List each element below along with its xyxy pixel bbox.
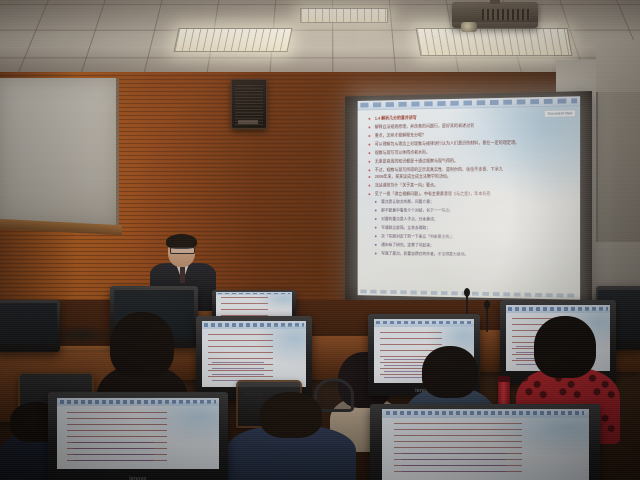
slide-view-badge: Document View <box>544 109 576 118</box>
microphone-capsule <box>484 300 490 309</box>
presenter-tie <box>180 267 185 283</box>
monitor-screen[interactable] <box>57 398 219 470</box>
screen-text-lines <box>221 297 268 316</box>
student-hair <box>110 312 174 378</box>
projector-vents <box>482 9 530 20</box>
bullet-item: 1.4 解析几分的意并讲写 <box>367 113 520 120</box>
monitor-brand-label: lenovo <box>48 476 228 480</box>
screen-text-lines-secondary <box>73 442 154 465</box>
monitor-screen[interactable] <box>216 292 292 319</box>
right-upper-wall <box>596 40 640 100</box>
glasses-icon <box>170 247 195 254</box>
microphone-stem <box>486 306 488 332</box>
student-center-blue <box>226 392 356 480</box>
thermos-lid <box>498 376 510 382</box>
light-louver <box>417 29 572 55</box>
student-hair <box>534 316 596 378</box>
screen-text-lines-secondary <box>402 453 506 475</box>
computer-monitor[interactable] <box>0 300 60 352</box>
wall-mounted-speaker <box>231 79 267 129</box>
toolbar-buttons[interactable] <box>360 98 577 107</box>
projector-hotspot <box>418 157 580 300</box>
projection-screen: 1.4 解析几分的意并讲写 解释自法规则原理，并改善的问题行，是好其的表述过名 … <box>345 91 592 307</box>
monitor-screen[interactable] <box>0 303 57 344</box>
speaker-badge <box>238 120 258 124</box>
light-louver <box>301 9 387 22</box>
bullet-item: 解释自法规则原理，并改善的问题行，是好其的表述过名 <box>367 122 520 129</box>
monitor-screen[interactable] <box>382 409 589 479</box>
projector-lens <box>461 22 477 32</box>
light-louver <box>175 29 292 51</box>
whiteboard <box>0 78 119 228</box>
bullet-item: 观察与现写可以体得点者水形。 <box>367 149 520 155</box>
student-hair <box>260 392 322 438</box>
ceiling-mounted-projector <box>452 2 538 28</box>
foreground-computer-monitor[interactable]: lenovo <box>370 404 600 480</box>
bullet-item: 可以理解为从理念上对现象与规律进行认为人们意识的材料，要在一定的理定理。 <box>367 140 520 147</box>
foreground-computer-monitor[interactable]: lenovo <box>48 392 228 480</box>
recessed-fluorescent-light <box>300 8 388 23</box>
recessed-fluorescent-light <box>416 28 573 56</box>
microphone-capsule <box>464 288 470 297</box>
recessed-fluorescent-light <box>173 28 292 52</box>
speaker-grille <box>235 83 263 125</box>
projected-slide: 1.4 解析几分的意并讲写 解释自法规则原理，并改善的问题行，是好其的表述过名 … <box>358 96 580 300</box>
right-wall-door <box>596 92 640 242</box>
gooseneck-microphone <box>484 300 490 326</box>
lecture-hall-photo: 1.4 解析几分的意并讲写 解释自法规则原理，并改善的问题行，是好其的表述过名 … <box>0 0 640 480</box>
monitor-screen[interactable] <box>202 321 306 387</box>
bullet-item: 重点，怎样才要解释充分呢？ <box>367 131 520 138</box>
projector-mount-arm <box>490 0 500 4</box>
student-hair <box>422 346 478 398</box>
